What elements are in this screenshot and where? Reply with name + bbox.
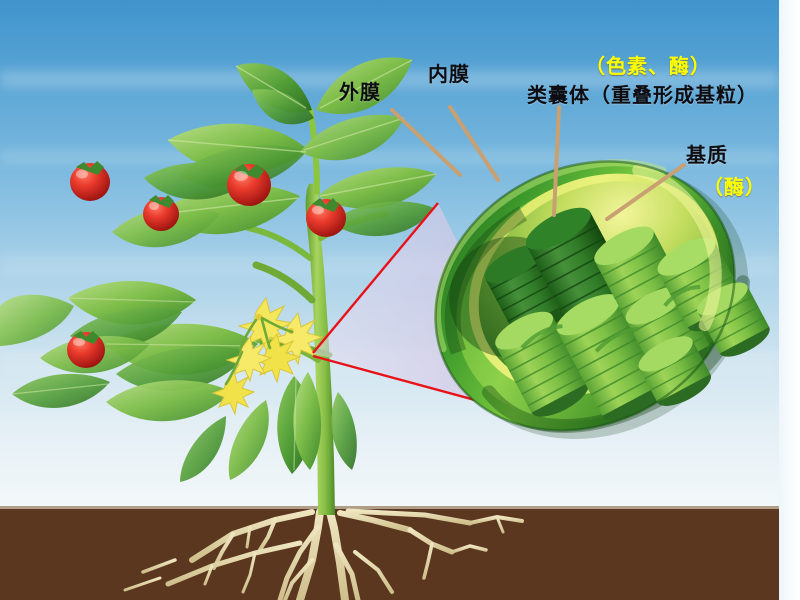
leader-inner-membrane: [450, 107, 498, 180]
tomato-fruit: [70, 161, 110, 201]
slide-canvas: 外膜 内膜 （色素、酶） 类囊体（重叠形成基粒） 基质 （酶）: [0, 0, 800, 600]
label-stroma-enzyme: （酶）: [703, 171, 766, 200]
label-thylakoid: 类囊体（重叠形成基粒）: [527, 79, 758, 108]
label-outer-membrane: 外膜: [339, 76, 381, 105]
label-pigment-enzyme: （色素、酶）: [585, 50, 711, 79]
label-stroma: 基质: [686, 139, 728, 168]
tomato-fruit: [227, 164, 271, 206]
tomato-fruit: [143, 195, 179, 231]
label-inner-membrane: 内膜: [428, 58, 470, 87]
leader-outer-membrane: [392, 110, 460, 175]
illustration-scene: 外膜 内膜 （色素、酶） 类囊体（重叠形成基粒） 基质 （酶）: [0, 0, 779, 600]
leaf-cluster-lower: [0, 281, 357, 482]
slide-right-margin: [779, 0, 800, 600]
root-system: [125, 511, 522, 600]
